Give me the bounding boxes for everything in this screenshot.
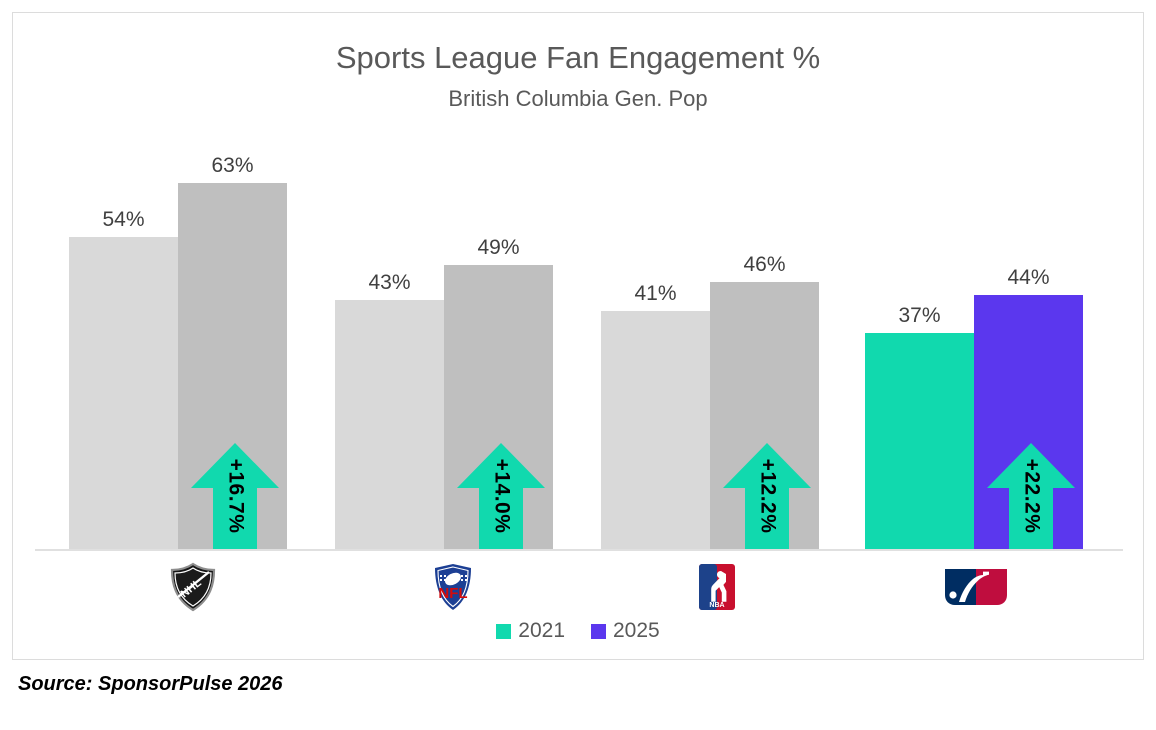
legend-swatch-2025 bbox=[591, 624, 606, 639]
bar-label-nba-2021: 41% bbox=[601, 282, 710, 306]
arrow-up-icon bbox=[723, 443, 811, 549]
chart-container: Sports League Fan Engagement % British C… bbox=[12, 12, 1144, 660]
nfl-shield-icon: NFL bbox=[427, 561, 479, 613]
legend: 2021 2025 bbox=[13, 619, 1143, 643]
bar-mlb-2021[interactable] bbox=[865, 333, 974, 549]
bar-label-nfl-2025: 49% bbox=[444, 236, 553, 260]
nba-logomark-icon: NBA bbox=[696, 561, 738, 613]
source-note: Source: SponsorPulse 2026 bbox=[18, 673, 283, 696]
bar-label-mlb-2025: 44% bbox=[974, 266, 1083, 290]
legend-label-2021: 2021 bbox=[518, 619, 565, 643]
legend-item-2021[interactable]: 2021 bbox=[496, 619, 565, 643]
nhl-logo: NHL bbox=[161, 561, 225, 613]
bar-label-nhl-2025: 63% bbox=[178, 154, 287, 178]
svg-text:NBA: NBA bbox=[709, 602, 724, 609]
growth-arrow-nba: +12.2% bbox=[723, 443, 811, 549]
nba-logo: NBA bbox=[696, 561, 738, 613]
arrow-up-icon bbox=[191, 443, 279, 549]
mlb-logomark-icon bbox=[939, 561, 1013, 609]
bar-label-nba-2025: 46% bbox=[710, 253, 819, 277]
growth-arrow-nhl: +16.7% bbox=[191, 443, 279, 549]
nfl-logo: NFL bbox=[427, 561, 479, 613]
bar-nba-2021[interactable] bbox=[601, 311, 710, 549]
arrow-up-icon bbox=[987, 443, 1075, 549]
legend-label-2025: 2025 bbox=[613, 619, 660, 643]
nhl-shield-icon: NHL bbox=[161, 561, 225, 613]
growth-arrow-nfl: +14.0% bbox=[457, 443, 545, 549]
bar-label-mlb-2021: 37% bbox=[865, 304, 974, 328]
arrow-up-icon bbox=[457, 443, 545, 549]
bar-nfl-2021[interactable] bbox=[335, 300, 444, 549]
bar-label-nhl-2021: 54% bbox=[69, 208, 178, 232]
bar-nhl-2021[interactable] bbox=[69, 237, 178, 549]
legend-item-2025[interactable]: 2025 bbox=[591, 619, 660, 643]
plot-area: 54% 63% +16.7% NHL 43% 4 bbox=[13, 13, 1145, 661]
bar-label-nfl-2021: 43% bbox=[335, 271, 444, 295]
legend-swatch-2021 bbox=[496, 624, 511, 639]
svg-text:NFL: NFL bbox=[438, 585, 467, 602]
mlb-logo bbox=[939, 561, 1013, 609]
growth-arrow-mlb: +22.2% bbox=[987, 443, 1075, 549]
x-axis-line bbox=[35, 549, 1123, 551]
